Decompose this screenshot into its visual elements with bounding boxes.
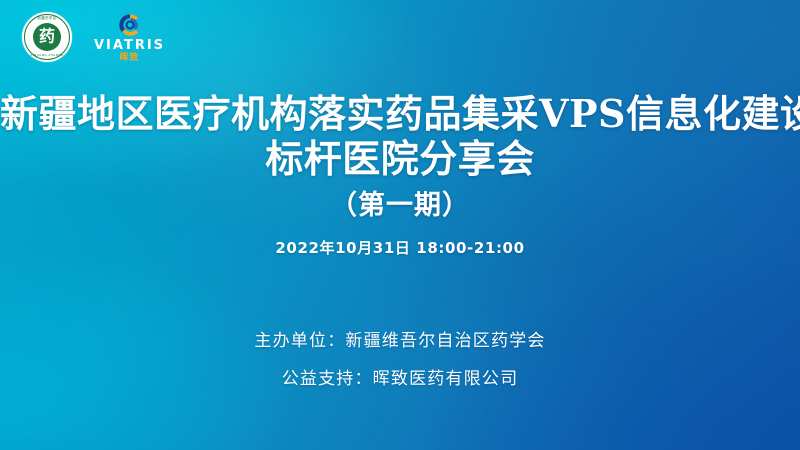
- title-line-1: 新疆地区医疗机构落实药品集采VPS信息化建设: [0, 92, 800, 137]
- viatris-logo: VIATRIS 晖致: [94, 12, 165, 64]
- logo-bar: 新疆药学会 药 XINJIANG PHARMA VIATRIS 晖致: [22, 11, 165, 63]
- supporter-line: 公益支持：晖致医药有限公司: [0, 371, 800, 388]
- seal-inner-disc: 药: [33, 23, 61, 51]
- title-line-2: 标杆医院分享会: [0, 137, 800, 182]
- viatris-wordmark: VIATRIS: [94, 39, 165, 53]
- viatris-swirl-icon: [117, 12, 143, 38]
- event-poster: 新疆药学会 药 XINJIANG PHARMA VIATRIS 晖致 新疆地区医…: [0, 0, 800, 450]
- organizer-line: 主办单位：新疆维吾尔自治区药学会: [0, 333, 800, 350]
- title-edition: （第一期）: [0, 188, 800, 223]
- poster-title-block: 新疆地区医疗机构落实药品集采VPS信息化建设 标杆医院分享会 （第一期）: [0, 92, 800, 223]
- event-datetime: 2022年10月31日 18:00-21:00: [0, 237, 800, 258]
- seal-center-character: 药: [39, 28, 55, 44]
- credits-block: 主办单位：新疆维吾尔自治区药学会 公益支持：晖致医药有限公司: [0, 333, 800, 388]
- seal-arc-bottom-text: XINJIANG PHARMA: [22, 54, 72, 57]
- seal-arc-top-text: 新疆药学会: [22, 17, 72, 20]
- viatris-chinese-name: 晖致: [120, 54, 140, 64]
- pharmaceutical-society-seal-logo: 新疆药学会 药 XINJIANG PHARMA: [22, 12, 72, 62]
